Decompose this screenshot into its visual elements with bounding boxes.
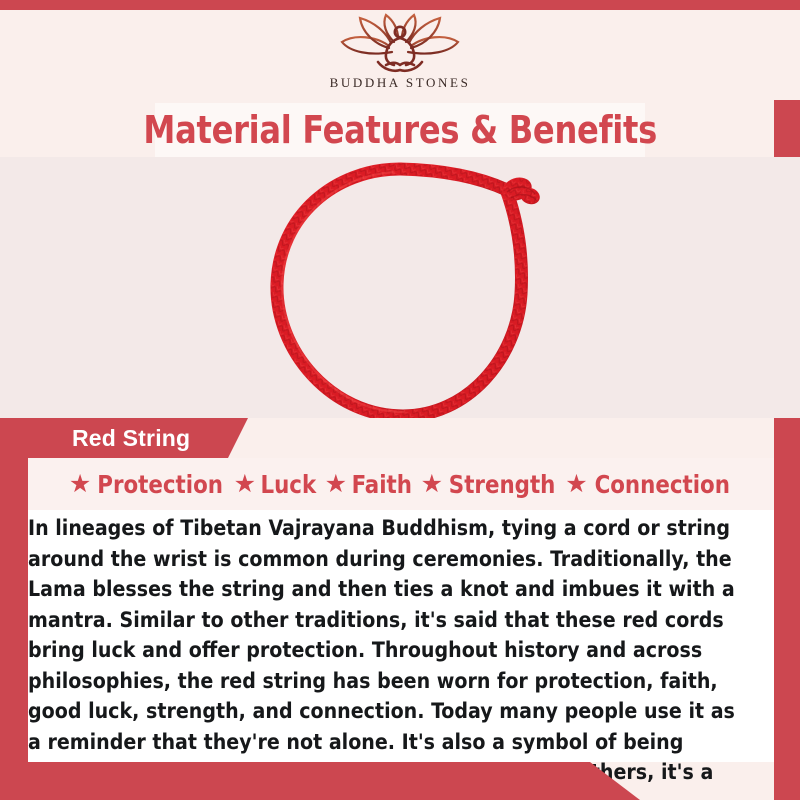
- product-image-area: [0, 157, 800, 418]
- top-red-bar: [0, 0, 800, 10]
- star-icon: ★: [325, 472, 347, 497]
- feature-label: Connection: [594, 470, 729, 499]
- product-label: Red String: [72, 425, 190, 452]
- feature-label: Luck: [260, 470, 316, 499]
- feature-label: Protection: [98, 470, 224, 499]
- feature-item: ★ Protection: [69, 470, 227, 499]
- feature-label: Faith: [352, 470, 412, 499]
- star-icon: ★: [234, 472, 256, 497]
- star-icon: ★: [69, 472, 91, 497]
- red-string-bracelet-image: [245, 157, 575, 418]
- feature-item: ★ Faith: [325, 470, 414, 499]
- feature-item: ★ Strength: [421, 470, 559, 499]
- description-panel: In lineages of Tibetan Vajrayana Buddhis…: [28, 510, 774, 762]
- feature-label: Strength: [449, 470, 556, 499]
- star-icon: ★: [565, 472, 587, 497]
- feature-item: ★ Connection: [565, 470, 733, 499]
- brand-name: BUDDHA STONES: [330, 75, 471, 91]
- page-title: Material Features & Benefits: [143, 108, 657, 152]
- brand-header: BUDDHA STONES: [0, 10, 800, 100]
- bottom-red-bar: [0, 762, 640, 800]
- title-banner: Material Features & Benefits: [155, 103, 645, 157]
- product-label-ribbon: Red String: [0, 418, 248, 458]
- description-text: In lineages of Tibetan Vajrayana Buddhis…: [28, 510, 763, 800]
- features-row: ★ Protection ★ Luck ★ Faith ★ Strength ★…: [28, 458, 774, 510]
- lotus-meditation-icon: [334, 12, 466, 74]
- poster-canvas: BUDDHA STONES Material Features & Benefi…: [0, 0, 800, 800]
- feature-item: ★ Luck: [234, 470, 318, 499]
- star-icon: ★: [421, 472, 443, 497]
